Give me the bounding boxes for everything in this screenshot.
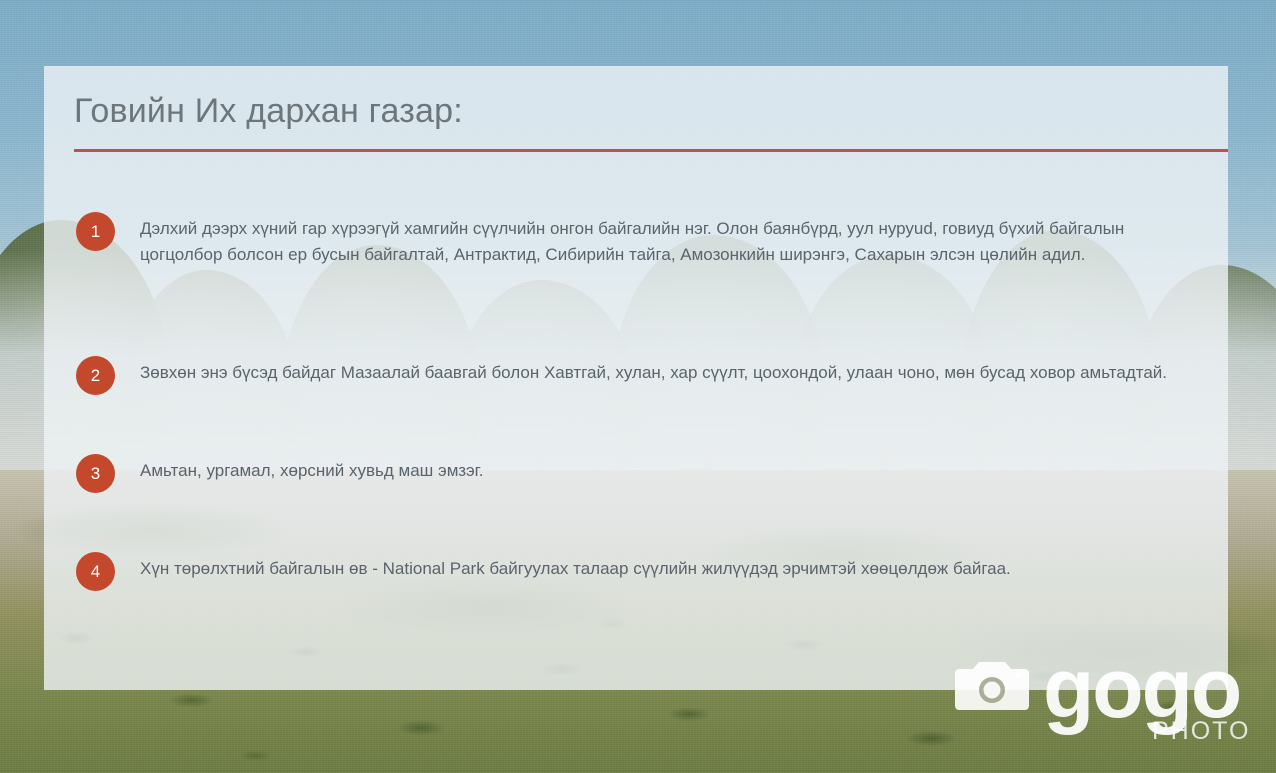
title-underline-rule [74, 149, 1228, 152]
bullet-text: Дэлхий дээрх хүний гар хүрээгүй хамгийн … [140, 216, 1175, 268]
content-panel: Говийн Их дархан газар: 1 Дэлхий дээрх х… [44, 66, 1228, 690]
list-item: 2 Зөвхөн энэ бүсэд байдаг Мазаалай баавг… [76, 360, 1208, 395]
bullet-number-badge: 3 [76, 454, 115, 493]
presentation-slide: Говийн Их дархан газар: 1 Дэлхий дээрх х… [0, 0, 1276, 773]
bullet-text: Амьтан, ургамал, хөрсний хувьд маш эмзэг… [140, 458, 484, 484]
bullet-number-badge: 1 [76, 212, 115, 251]
page-title: Говийн Их дархан газар: [74, 92, 463, 131]
list-item: 1 Дэлхий дээрх хүний гар хүрээгүй хамгий… [76, 216, 1208, 268]
bullet-text: Зөвхөн энэ бүсэд байдаг Мазаалай баавгай… [140, 360, 1167, 386]
list-item: 4 Хүн төрөлхтний байгалын өв - National … [76, 556, 1208, 591]
bullet-text: Хүн төрөлхтний байгалын өв - National Pa… [140, 556, 1011, 582]
bullet-number-badge: 2 [76, 356, 115, 395]
list-item: 3 Амьтан, ургамал, хөрсний хувьд маш эмз… [76, 458, 1208, 493]
bullet-number-badge: 4 [76, 552, 115, 591]
